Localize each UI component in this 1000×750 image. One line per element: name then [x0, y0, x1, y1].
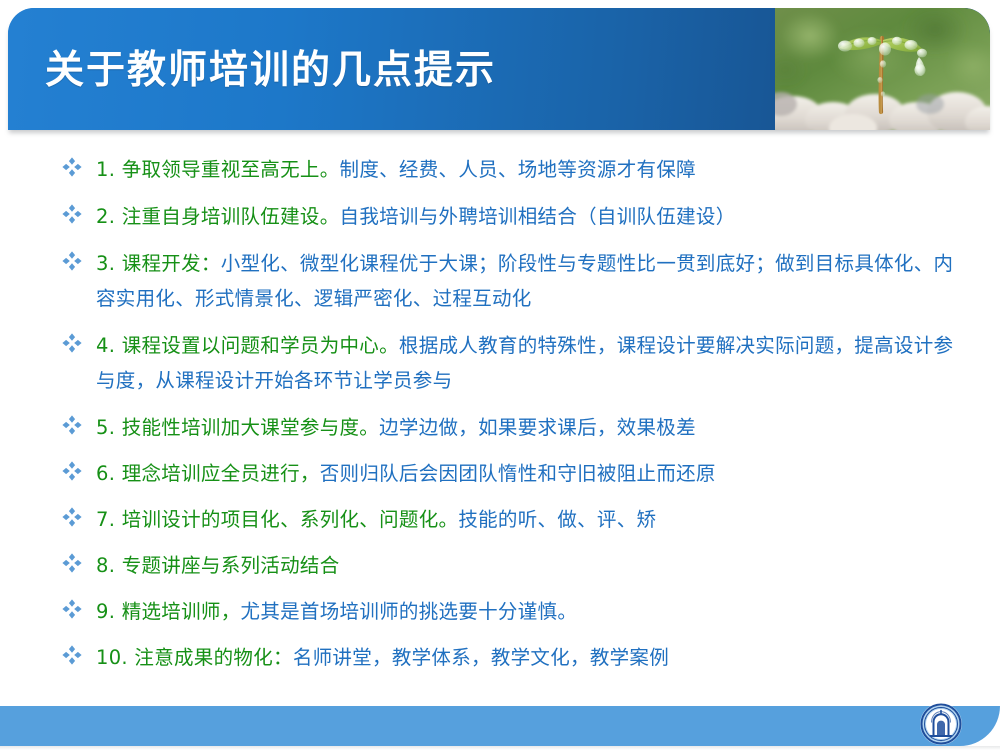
- header-photo: [775, 8, 990, 130]
- list-item-green-segment: 1. 争取领导重视至高无上。: [96, 158, 340, 181]
- list-item-text: 7. 培训设计的项目化、系列化、问题化。技能的听、做、评、矫: [96, 502, 958, 537]
- list-item-blue-segment: 尤其是首场培训师的挑选要十分谨慎。: [241, 600, 578, 623]
- diamond-bullet-icon: [60, 202, 84, 226]
- list-item-text: 3. 课程开发：小型化、微型化课程优于大课；阶段性与专题性比一贯到底好；做到目标…: [96, 246, 958, 316]
- list-item-blue-segment: 技能的听、做、评、矫: [458, 508, 656, 531]
- diamond-bullet-icon: [60, 413, 84, 437]
- header-banner: 关于教师培训的几点提示: [8, 8, 990, 130]
- list-item: 6. 理念培训应全员进行，否则归队后会因团队惰性和守旧被阻止而还原: [0, 456, 1000, 491]
- diamond-bullet-icon: [60, 459, 84, 483]
- list-item: 5. 技能性培训加大课堂参与度。边学边做，如果要求课后，效果极差: [0, 410, 1000, 445]
- list-item: 3. 课程开发：小型化、微型化课程优于大课；阶段性与专题性比一贯到底好；做到目标…: [0, 246, 1000, 316]
- diamond-bullet-icon: [60, 643, 84, 667]
- diamond-bullet-icon: [60, 249, 84, 273]
- list-item-green-segment: 2. 注重自身培训队伍建设。: [96, 205, 340, 228]
- bullet-list: 1. 争取领导重视至高无上。制度、经费、人员、场地等资源才有保障 2. 注重自身…: [0, 152, 1000, 686]
- list-item-green-segment: 5. 技能性培训加大课堂参与度。: [96, 416, 379, 439]
- list-item-text: 8. 专题讲座与系列活动结合: [96, 548, 958, 583]
- list-item-green-segment: 10. 注意成果的物化：: [96, 646, 293, 669]
- list-item-blue-segment: 自我培训与外聘培训相结合（自训队伍建设）: [340, 205, 736, 228]
- list-item-green-segment: 4. 课程设置以问题和学员为中心。: [96, 334, 399, 357]
- diamond-bullet-icon: [60, 155, 84, 179]
- diamond-bullet-icon: [60, 331, 84, 355]
- list-item-text: 9. 精选培训师，尤其是首场培训师的挑选要十分谨慎。: [96, 594, 958, 629]
- list-item: 2. 注重自身培训队伍建设。自我培训与外聘培训相结合（自训队伍建设）: [0, 199, 1000, 234]
- list-item-blue-segment: 制度、经费、人员、场地等资源才有保障: [340, 158, 696, 181]
- list-item-blue-segment: 小型化、微型化课程优于大课；阶段性与专题性比一贯到底好；做到目标具体化、内容实用…: [96, 252, 953, 310]
- list-item-green-segment: 7. 培训设计的项目化、系列化、问题化。: [96, 508, 458, 531]
- list-item: 10. 注意成果的物化：名师讲堂，教学体系，教学文化，教学案例: [0, 640, 1000, 675]
- list-item-text: 5. 技能性培训加大课堂参与度。边学边做，如果要求课后，效果极差: [96, 410, 958, 445]
- list-item-green-segment: 8. 专题讲座与系列活动结合: [96, 554, 340, 577]
- list-item-green-segment: 3. 课程开发：: [96, 252, 221, 275]
- list-item: 8. 专题讲座与系列活动结合: [0, 548, 1000, 583]
- university-seal-logo: [919, 702, 963, 746]
- list-item-text: 6. 理念培训应全员进行，否则归队后会因团队惰性和守旧被阻止而还原: [96, 456, 958, 491]
- list-item-blue-segment: 否则归队后会因团队惰性和守旧被阻止而还原: [320, 462, 716, 485]
- footer-band: [0, 706, 1000, 746]
- list-item-green-segment: 6. 理念培训应全员进行，: [96, 462, 320, 485]
- slide-canvas: 关于教师培训的几点提示: [0, 0, 1000, 750]
- list-item: 7. 培训设计的项目化、系列化、问题化。技能的听、做、评、矫: [0, 502, 1000, 537]
- page-title: 关于教师培训的几点提示: [45, 46, 496, 96]
- diamond-bullet-icon: [60, 597, 84, 621]
- list-item-green-segment: 9. 精选培训师，: [96, 600, 241, 623]
- seedling-with-dew-drops-image: [775, 8, 990, 130]
- diamond-bullet-icon: [60, 551, 84, 575]
- diamond-bullet-icon: [60, 505, 84, 529]
- footer-shadow: [0, 746, 1000, 750]
- list-item: 1. 争取领导重视至高无上。制度、经费、人员、场地等资源才有保障: [0, 152, 1000, 187]
- list-item: 4. 课程设置以问题和学员为中心。根据成人教育的特殊性，课程设计要解决实际问题，…: [0, 328, 1000, 398]
- list-item-blue-segment: 名师讲堂，教学体系，教学文化，教学案例: [293, 646, 669, 669]
- list-item-text: 10. 注意成果的物化：名师讲堂，教学体系，教学文化，教学案例: [96, 640, 958, 675]
- list-item-text: 4. 课程设置以问题和学员为中心。根据成人教育的特殊性，课程设计要解决实际问题，…: [96, 328, 958, 398]
- list-item-text: 2. 注重自身培训队伍建设。自我培训与外聘培训相结合（自训队伍建设）: [96, 199, 958, 234]
- list-item-text: 1. 争取领导重视至高无上。制度、经费、人员、场地等资源才有保障: [96, 152, 958, 187]
- list-item: 9. 精选培训师，尤其是首场培训师的挑选要十分谨慎。: [0, 594, 1000, 629]
- list-item-blue-segment: 边学边做，如果要求课后，效果极差: [379, 416, 696, 439]
